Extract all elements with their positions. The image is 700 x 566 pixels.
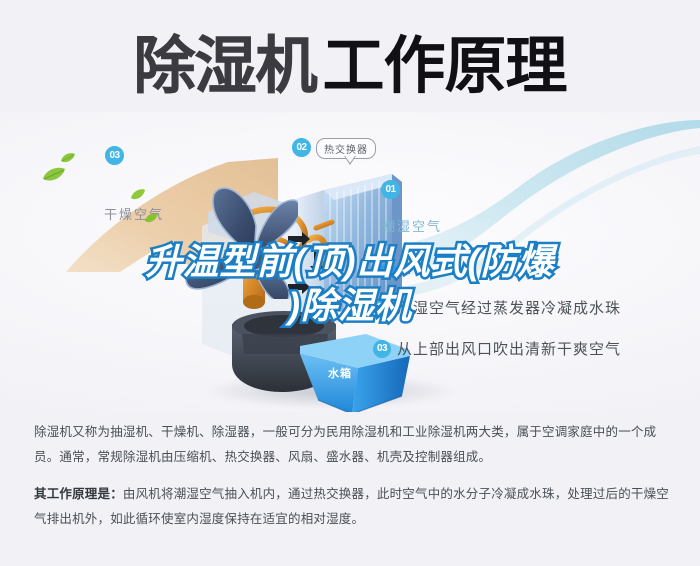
water-tank-label: 水箱	[328, 365, 352, 381]
badge-02-heat-exchanger: 02	[292, 138, 311, 157]
page-title-part2: 工作原理	[323, 36, 567, 98]
legend-item-03: 03 从上部出风口吹出清新干爽空气	[373, 338, 621, 359]
infographic-page: 除湿机 工作原理	[0, 0, 700, 566]
body-paragraph-2-rest: 由风机将潮湿空气抽入机内，通过热交换器，此时空气中的水分子冷凝成水珠，处理过后的…	[34, 487, 669, 526]
heat-exchanger-callout-tail	[344, 156, 356, 165]
watermark-overlay: 升温型前(顶)出风式(防爆 )除湿机	[0, 240, 700, 328]
body-paragraph-2-lead: 其工作原理是：	[34, 487, 123, 501]
badge-01-humid-air: 01	[381, 180, 400, 199]
watermark-line-1: 升温型前(顶)出风式(防爆	[0, 240, 700, 284]
page-title: 除湿机 工作原理	[0, 28, 700, 106]
legend-text-03: 从上部出风口吹出清新干爽空气	[397, 338, 621, 359]
body-paragraph-2: 其工作原理是：由风机将潮湿空气抽入机内，通过热交换器，此时空气中的水分子冷凝成水…	[34, 482, 674, 532]
dry-air-label: 干燥空气	[104, 204, 164, 223]
badge-03-dry-air: 03	[105, 146, 124, 165]
leaf-icon	[130, 188, 146, 201]
leaf-icon	[42, 166, 66, 183]
body-copy: 除湿机又称为抽湿机、干燥机、除湿器，一般可分为民用除湿机和工业除湿机两大类，属于…	[34, 420, 674, 544]
legend-badge-03: 03	[373, 340, 391, 358]
body-paragraph-1: 除湿机又称为抽湿机、干燥机、除湿器，一般可分为民用除湿机和工业除湿机两大类，属于…	[34, 420, 674, 470]
leaf-icon	[60, 152, 76, 164]
humid-air-label: 潮湿空气	[382, 216, 442, 235]
watermark-line-2: )除湿机	[0, 284, 700, 328]
page-title-part1: 除湿机	[133, 36, 316, 98]
